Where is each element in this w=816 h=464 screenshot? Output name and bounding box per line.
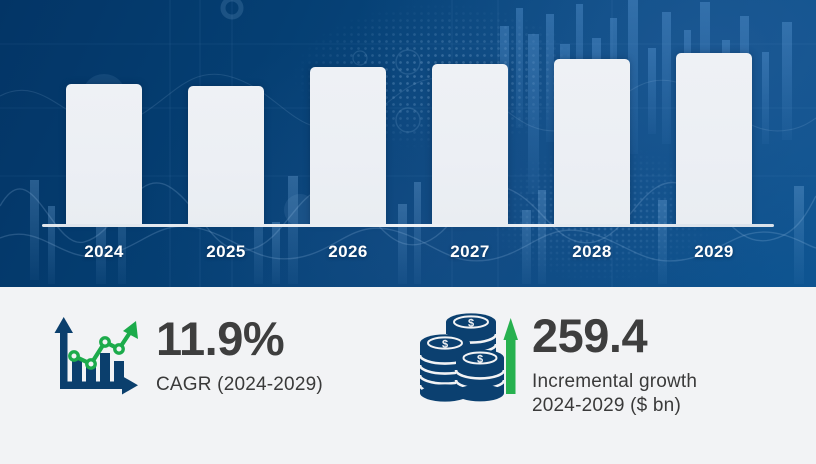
stat-cagr-text: 11.9% CAGR (2024-2029)	[156, 315, 323, 397]
stats-panel: 11.9% CAGR (2024-2029)	[0, 287, 816, 464]
cagr-value: 11.9%	[156, 315, 323, 362]
chart-bar	[432, 64, 508, 224]
coin-stacks-icon: $ $	[418, 312, 518, 409]
svg-text:$: $	[477, 354, 483, 366]
x-axis-tick-label: 2024	[54, 242, 154, 262]
chart-bar	[310, 67, 386, 224]
svg-text:$: $	[468, 318, 474, 330]
chart-panel: 2024 2025 2026 2027 2028 2029	[0, 0, 816, 287]
incremental-growth-value: 259.4	[532, 312, 697, 359]
chart-bar	[66, 84, 142, 224]
x-axis-tick-label: 2025	[176, 242, 276, 262]
x-axis-tick-label: 2028	[542, 242, 642, 262]
stat-cagr: 11.9% CAGR (2024-2029)	[0, 287, 410, 464]
bar-chart-plot: 2024 2025 2026 2027 2028 2029	[0, 0, 816, 287]
chart-bar	[554, 59, 630, 224]
x-axis-line	[42, 224, 774, 227]
chart-bar	[676, 53, 752, 224]
bar-chart-growth-icon	[48, 315, 142, 404]
svg-text:$: $	[442, 339, 448, 351]
coin-stack-right: $	[456, 350, 504, 402]
infographic-root: 2024 2025 2026 2027 2028 2029	[0, 0, 816, 464]
cagr-caption: CAGR (2024-2029)	[156, 373, 323, 397]
x-axis-tick-label: 2029	[664, 242, 764, 262]
incremental-growth-caption: Incremental growth 2024-2029 ($ bn)	[532, 370, 697, 418]
x-axis-tick-label: 2027	[420, 242, 520, 262]
chart-bar	[188, 86, 264, 224]
x-axis-tick-label: 2026	[298, 242, 398, 262]
stat-growth-text: 259.4 Incremental growth 2024-2029 ($ bn…	[532, 312, 697, 418]
up-arrow-icon	[503, 318, 518, 394]
stat-incremental-growth: $ $	[410, 287, 816, 464]
